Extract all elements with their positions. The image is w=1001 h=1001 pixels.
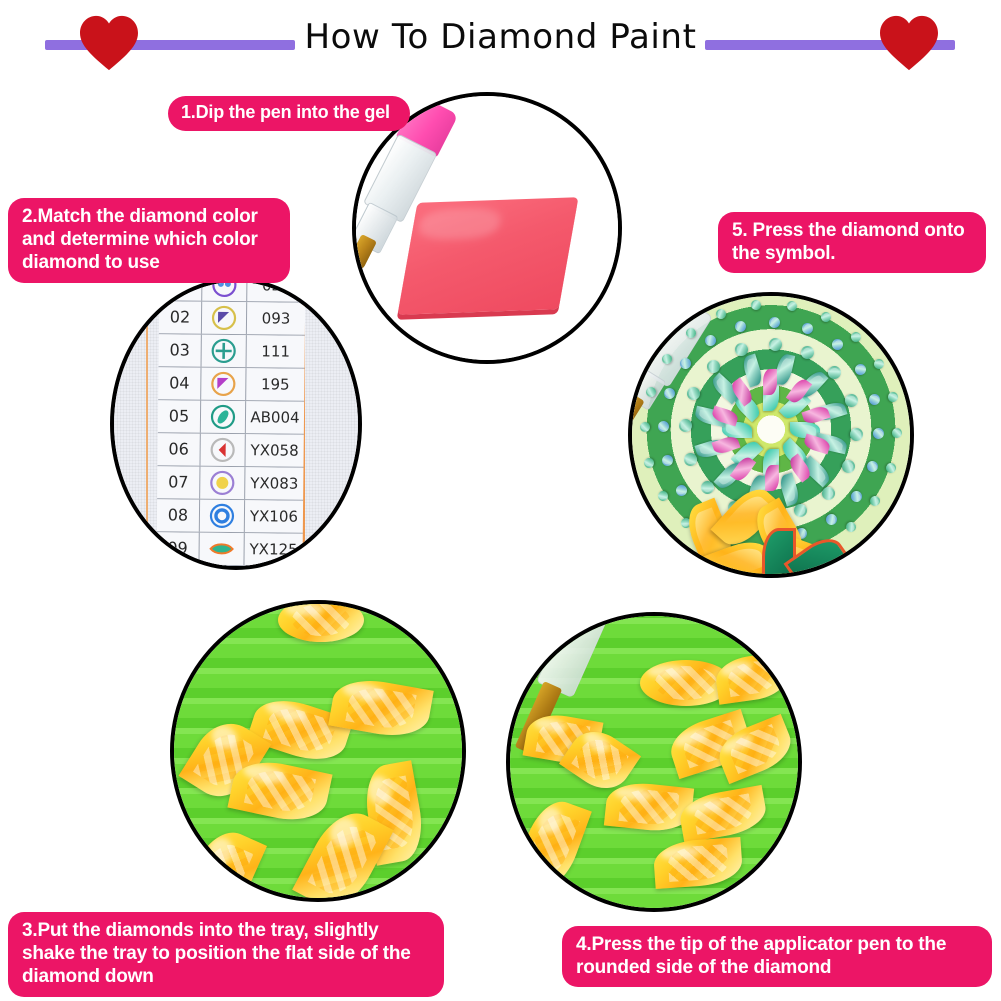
step-label-2: 2.Match the diamond color and determine … [8,198,290,283]
rhinestone [829,337,844,352]
facet [888,393,897,401]
rhinestone [853,362,868,377]
facet [826,514,837,525]
facet [886,464,895,472]
yellow-diamond [227,755,332,828]
facet [802,346,814,359]
chart-row-code: YX058 [246,441,304,460]
table-row: 05AB004 [158,400,304,435]
facet [701,481,714,494]
photo-bubble-step-2: 0102802093031110419505AB00406YX05807YX08… [110,278,362,570]
rhinestone [840,458,857,475]
facet [870,496,880,506]
facet [662,355,672,365]
chart-row-code: 195 [246,375,304,394]
facet [687,387,700,399]
chart-row-code: AB004 [246,408,304,427]
facet [744,358,760,383]
filled-dot-icon [200,467,245,499]
rhinestone [849,488,864,503]
chart-row-number: 08 [157,499,200,531]
rhinestone [786,300,798,312]
diamond-body [653,837,744,889]
rhinestone [801,321,815,335]
diamond-body [227,755,332,828]
facet [828,366,841,379]
facet [875,430,884,437]
photo-pen-into-gel [356,96,618,360]
facet [851,491,862,502]
photo-bubble-step-5 [628,292,914,578]
rhinestone [657,421,668,432]
facet [707,360,720,373]
facet [821,312,830,322]
facet [803,323,812,333]
page-title: How To Diamond Paint [0,17,1001,57]
rhinestone [792,503,809,520]
rhinestone [866,460,880,474]
facet [832,339,843,350]
table-row: 07YX083 [157,466,303,501]
facet [867,462,877,471]
rhinestone [873,428,884,439]
facet [726,425,749,435]
yellow-diamond [713,651,790,705]
rhinestone [768,337,782,351]
facet [794,425,817,435]
rhinestone [872,357,886,371]
chart-row-number: 04 [158,367,201,399]
chart-row-code: YX125 [245,540,303,559]
rhinestone [887,391,899,403]
rhinestone [764,465,778,491]
rhinestone [849,330,863,344]
yellow-diamond [278,600,364,642]
facet [686,328,696,338]
table-row: 02093 [159,301,305,336]
diamond-body [713,651,790,705]
facet [752,301,759,309]
facet [851,332,861,342]
chevron-icon [200,434,245,466]
chart-row-number: 03 [159,334,202,366]
facet [781,476,797,501]
ring-icon [200,500,245,532]
rhinestone [885,462,898,475]
rhinestone [868,393,882,407]
rhinestone [769,316,780,327]
photo-color-chart: 0102802093031110419505AB00406YX05807YX08… [114,282,358,566]
step-label-5: 5. Press the diamond onto the symbol. [718,212,986,273]
table-row: 04195 [158,367,304,402]
facet [641,424,649,431]
chart-row-number: 07 [157,466,200,498]
facet [777,357,792,382]
facet [645,459,654,467]
chart-row-number: 09 [156,532,199,564]
rhinestone [892,428,902,438]
table-row: 06YX058 [157,433,303,468]
photo-mandala-canvas [632,296,910,574]
diamond-body [512,794,592,896]
facet [705,335,716,346]
facet [659,423,668,430]
infographic-stage: How To Diamond Paint 0102802093031110419… [0,0,1001,1001]
yellow-diamond [653,837,744,889]
table-row: 09YX125 [156,532,302,567]
photo-pen-picks-diamond [510,616,798,908]
yellow-diamond [512,794,592,896]
rhinestone [825,363,843,381]
rhinestone [722,422,752,438]
rhinestone [844,393,861,410]
rhinestone [678,419,692,433]
rhinestone [774,353,795,387]
facet [852,430,862,439]
facet [664,389,674,398]
step-label-1: 1.Dip the pen into the gel [168,96,410,131]
facet [846,522,856,532]
facet [771,318,778,327]
rhinestone [657,489,671,503]
diamond-body [278,600,364,642]
rhinestone [734,319,748,333]
facet [736,343,747,355]
rhinestone [824,512,839,527]
chart-row-code: 093 [247,309,305,328]
facet [843,461,856,473]
facet [795,505,806,517]
facet [855,364,866,375]
photo-diamond-tray [174,604,462,898]
rhinestone [799,344,816,361]
chart-row-number: 06 [157,433,200,465]
rhinestone [844,520,858,534]
rhinestone [868,494,882,508]
facet [646,387,655,395]
chart-row-code: YX106 [245,507,303,526]
facet [736,321,745,331]
rhinestone [750,299,761,310]
yellow-diamond [175,822,267,902]
marquise-icon [199,533,244,565]
step-label-3: 3.Put the diamonds into the tray, slight… [8,912,444,997]
facet [870,395,880,404]
step-label-4: 4.Press the tip of the applicator pen to… [562,926,992,987]
facet [684,454,696,465]
chart-row-code: YX083 [245,474,303,493]
rhinestone [850,427,864,441]
facet [874,360,884,369]
rhinestone [660,453,674,467]
canvas-guide-line [146,282,148,566]
plus-icon [202,335,247,367]
chart-row-number: 05 [158,400,201,432]
photo-bubble-step-3 [170,600,466,902]
facet [822,487,835,500]
facet [717,309,726,319]
facet [659,491,669,500]
facet [680,422,690,431]
facet [676,485,687,496]
diamond-body [175,822,267,902]
photo-bubble-step-4 [506,612,802,912]
facet [893,430,901,437]
leaf-icon [201,401,246,433]
table-row: 03111 [159,334,305,369]
facet [788,301,796,310]
photo-bubble-step-1 [352,92,622,364]
facet [846,395,858,406]
rhinestone [674,483,689,498]
facet [662,456,672,465]
table-row: 08YX106 [157,499,303,534]
chart-row-code: 111 [247,342,305,361]
chart-row-number: 02 [159,301,202,333]
color-legend-table: 0102802093031110419505AB00406YX05807YX08… [156,278,305,567]
rhinestone [819,310,832,323]
triangle-icon [201,368,246,400]
triangle-icon [202,302,247,334]
facet [771,339,780,349]
